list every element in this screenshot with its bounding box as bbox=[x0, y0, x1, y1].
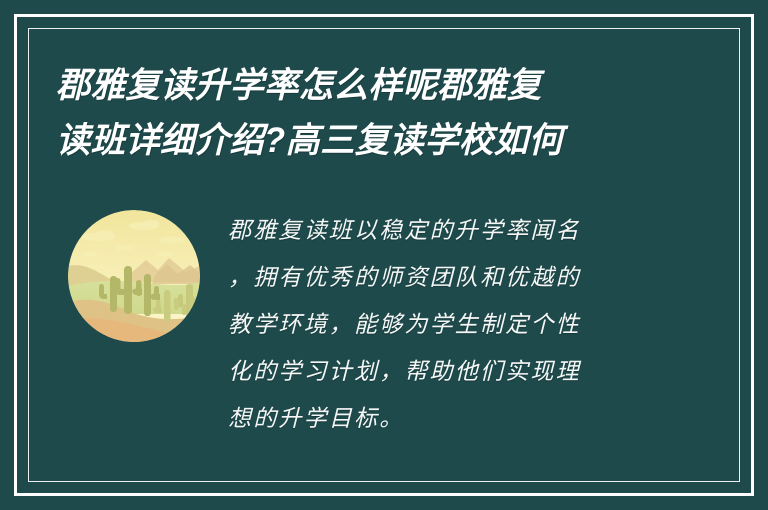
body-text: 郡雅复读班以稳定的升学率闻名 ，拥有优秀的师资团队和优越的 教学环境，能够为学生… bbox=[228, 208, 646, 443]
page-title-line-2: 读班详细介绍?高三复读学校如何 bbox=[56, 113, 683, 168]
page-title-line-1: 郡雅复读升学率怎么样呢郡雅复 bbox=[56, 58, 683, 113]
poster-card: 郡雅复读升学率怎么样呢郡雅复 读班详细介绍?高三复读学校如何 bbox=[0, 0, 768, 510]
body-text-line-4: 化的学习计划，帮助他们实现理 bbox=[228, 349, 646, 396]
body-text-line-1: 郡雅复读班以稳定的升学率闻名 bbox=[228, 208, 646, 255]
page-title: 郡雅复读升学率怎么样呢郡雅复 读班详细介绍?高三复读学校如何 bbox=[56, 58, 696, 168]
desert-cactus-circle-image bbox=[68, 210, 200, 342]
body-text-line-2: ，拥有优秀的师资团队和优越的 bbox=[228, 255, 646, 302]
body-text-line-3: 教学环境，能够为学生制定个性 bbox=[228, 302, 646, 349]
body-text-line-5: 想的升学目标。 bbox=[228, 396, 646, 443]
